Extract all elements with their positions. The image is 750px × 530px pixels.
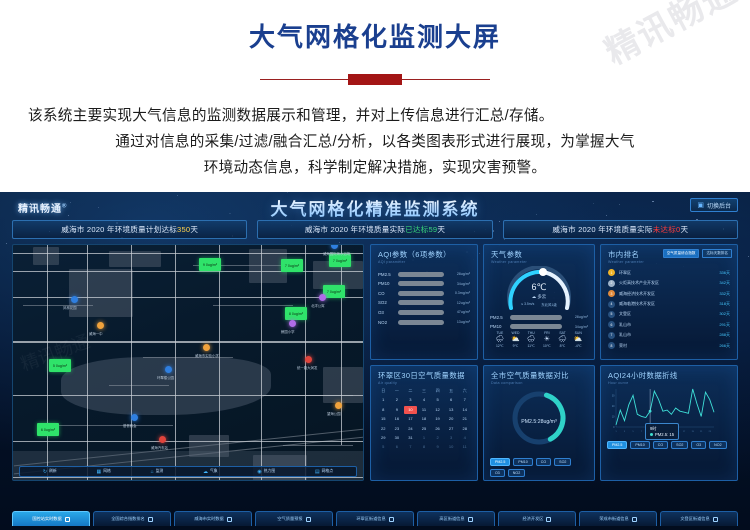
map-poi-icon[interactable] [305,356,312,363]
rank-value: 332天 [719,291,730,297]
map-column: 精讯畅通 ↻刷新▦网格⌂监测☁气象◉热力图▤网格点 7 0ug/m³7 0ug/… [12,244,364,481]
rank-badge: 6 [608,321,615,328]
map-block [323,367,363,403]
x-tick-label: 21 [700,431,702,433]
calendar-day[interactable]: 13 [445,406,458,414]
line-panel-header: AQI24小时数据折线 Hour curve [601,366,737,385]
x-tick-label: 3 [624,431,625,433]
calendar-day[interactable]: 24 [404,425,417,433]
calendar-day[interactable]: 1 [377,396,390,404]
x-tick-label: 17 [683,431,685,433]
calendar-day[interactable]: 6 [445,396,458,404]
rank-row[interactable]: 1 环翠区 336天 [608,269,730,276]
temperature-gauge: 6℃ ☁ 多云 ≤ 3.5m/s 东北风1级 [503,266,575,310]
dashboard-header: 精讯畅通® 大气网格化精准监测系统 ▣ 切换后台 [0,192,750,220]
kpi-value: 已达标59 [405,224,437,235]
aqi-bar-value: 47ug/m³ [448,310,470,314]
map-poi-label: 威海国际海水浴场 [323,251,350,256]
rank-badge: 4 [608,301,615,308]
bottom-tab-label: 荣成市街道信息 [599,516,628,522]
y-tick-label: 30 [612,394,615,397]
forecast-day: FRI ☀ 10℃ [539,331,555,348]
map-control-刷新[interactable]: ↻刷新 [43,469,57,475]
calendar-day[interactable]: 18 [418,415,431,423]
rank-badge: 5 [608,311,615,318]
tooltip-series: PM2.5: 15 [655,432,674,437]
dashboard-grid: 精讯畅通 ↻刷新▦网格⌂监测☁气象◉热力图▤网格点 7 0ug/m³7 0ug/… [0,239,750,481]
calendar-day[interactable]: 17 [404,415,417,423]
map-poi-icon[interactable] [131,414,138,421]
weather-bar-track [510,315,562,320]
kpi-suffix: 天 [680,224,688,235]
map-marker[interactable]: 9 0ug/m³ [199,258,221,271]
y-tick-label: 10 [612,415,615,418]
monitor-icon: ▣ [697,201,704,209]
calendar-day[interactable]: 23 [391,425,404,433]
weather-bar-label: PM10 [490,324,506,329]
rank-row[interactable]: 8 荣村 266天 [608,342,730,349]
bottom-tab-label: 国控站实时数据 [32,516,61,522]
rank-badge: 8 [608,342,615,349]
aqi-bar-track [398,300,444,305]
map-road [23,305,93,306]
calendar-panel-header: 环翠区30日空气质量数据 Air quality [371,366,477,385]
calendar-day[interactable]: 16 [391,415,404,423]
rank-value: 302天 [719,311,730,317]
calendar-day[interactable]: 10 [404,406,417,414]
calendar-panel: 环翠区30日空气质量数据 Air quality 日一二三四五六12345678… [370,365,478,481]
rank-badge: 1 [608,269,615,276]
aqi-panel: AQI参数（6项参数） AQI parameter PM2.5 28ug/m³P… [370,244,478,360]
chip-CO[interactable]: CO [653,441,668,449]
weather-panel: 天气参数 Weather parameter 6℃ [483,244,595,360]
map-block [33,247,59,265]
heatmap-icon: ◉ [257,469,261,475]
calendar-day[interactable]: 29 [377,434,390,442]
calendar-day[interactable]: 30 [391,434,404,442]
x-tick-label: 23 [709,431,711,433]
x-tick-label: 19 [692,431,694,433]
calendar-day[interactable]: 5 [377,443,390,451]
map-poi-icon[interactable] [203,344,210,351]
map-road [109,385,169,386]
line-chart-body: 0102030401357911131517192123 9时 PM2.5: 1… [601,385,737,439]
map-marker[interactable]: 6 0ug/m³ [37,423,59,436]
weather-icon: ☁ [203,469,208,475]
kpi-value: 350 [177,225,190,234]
calendar-day[interactable]: 14 [458,406,471,414]
bottom-tab-label: 环翠区街道信息 [356,516,385,522]
refresh-icon: ↻ [43,469,47,475]
forecast-day-temp: 12℃ [492,344,508,348]
layer-icon: ▤ [315,469,320,475]
panels-row-bottom: 环翠区30日空气质量数据 Air quality 日一二三四五六12345678… [370,365,738,481]
weather-bar-row: PM10 34ug/m³ [490,324,588,329]
title-divider [260,74,490,86]
bottom-tab-全国综合指数排名[interactable]: 全国综合指数排名 [93,511,171,526]
y-tick-label: 0 [613,426,615,429]
map-road [175,245,176,481]
map-poi-icon[interactable] [159,436,166,443]
rain-icon: 🌧 [555,335,571,344]
expand-icon [468,517,473,522]
map-poi-icon[interactable] [331,244,338,249]
aqi-bar-row: CO 0.3mg/m³ [378,291,470,296]
map-poi-icon[interactable] [289,320,296,327]
rank-region: 荣村 [619,343,715,349]
expand-icon [389,517,394,522]
aqi-bar-track [398,281,444,286]
rank-region: 威海经济技术开发区 [619,291,715,297]
map-poi-label: 凤林花园 [63,305,77,310]
calendar-day[interactable]: 8 [418,443,431,451]
line-chip-row: PM2.5PM10COSO2O3NO2 [601,439,737,449]
weather-bar-label: PM2.5 [490,315,506,320]
kpi-2[interactable]: 威海市 2020 年环境质量实际 已达标59 天 [257,220,492,239]
calendar-day[interactable]: 3 [404,396,417,404]
aqi-bar-list: PM2.5 28ug/m³PM10 34ug/m³CO 0.3mg/m³SO2 … [371,264,477,325]
chip-PM2.5[interactable]: PM2.5 [607,441,627,449]
cloud-icon: ☁ [532,294,536,299]
compare-panel-header: 全市空气质量数据对比 Data comparison [484,366,594,385]
bottom-tab-label: 空气质量预报 [277,516,302,522]
line-panel-title: AQI24小时数据折线 [608,370,731,381]
map-road [305,245,306,481]
map-poi-label: 威海一中 [89,331,103,336]
bottom-tab-荣成市街道信息[interactable]: 荣成市街道信息 [579,511,657,526]
bottom-tab-label: 经济开发区 [523,516,544,522]
bottom-tab-经济开发区[interactable]: 经济开发区 [498,511,576,526]
rank-tab-days[interactable]: 达标天数排名 [702,249,732,258]
dashboard: 精讯畅通® 大气网格化精准监测系统 ▣ 切换后台 威海市 2020 年环境质量计… [0,192,750,530]
chip-PM10[interactable]: PM10 [630,441,649,449]
calendar-grid[interactable]: 日一二三四五六123456789101112131415161718192021… [377,387,471,452]
calendar-day[interactable]: 11 [458,443,471,451]
series-dot-icon [650,433,653,436]
forecast-day-temp: 9℃ [508,344,524,348]
aqi-bar-row: PM10 34ug/m³ [378,281,470,286]
switch-backend-button[interactable]: ▣ 切换后台 [690,198,738,212]
bottom-tab-label: 威海市实时数据 [194,516,223,522]
weather-bar-value: 34ug/m³ [566,325,588,329]
aqi-bar-label: CO [378,291,394,296]
calendar-day[interactable]: 12 [431,406,444,414]
calendar-weekday: 二 [404,387,417,395]
weather-bar-row: PM2.5 28ug/m³ [490,315,588,320]
rank-row[interactable]: 6 乳山市 291天 [608,321,730,328]
rank-region: 火炬高技术产业开发区 [619,280,715,286]
x-tick-label: 7 [641,431,642,433]
map-control-网格点[interactable]: ▤网格点 [315,469,333,475]
panels-row-top: AQI参数（6项参数） AQI parameter PM2.5 28ug/m³P… [370,244,738,360]
calendar-day[interactable]: 26 [431,425,444,433]
line-hover-point[interactable] [649,410,652,413]
rank-badge: 2 [608,280,615,287]
rank-region: 威海临港技术开发区 [619,301,715,307]
intro-body: 该系统主要实现大气信息的监测数据展示和管理，并对上传信息进行汇总/存储。 通过对… [28,104,722,182]
rank-value: 291天 [719,322,730,328]
aqi-bar-track [398,320,444,325]
aqi-bar-row: NO2 13ug/m³ [378,320,470,325]
rain-icon: 🌧 [523,335,539,344]
expand-icon [713,517,718,522]
forecast-day: THU 🌧 11℃ [523,331,539,348]
forecast-day: SUN ⛅ -4℃ [570,331,586,348]
calendar-day[interactable]: 3 [445,434,458,442]
bottom-tab-环翠区街道信息[interactable]: 环翠区街道信息 [336,511,414,526]
chip-PM10[interactable]: PM10 [513,458,532,466]
x-tick-label: 1 [615,431,616,433]
calendar-day[interactable]: 7 [404,443,417,451]
expand-icon [227,517,232,522]
map-road [213,305,293,306]
bottom-tab-空气质量预报[interactable]: 空气质量预报 [255,511,333,526]
weather-condition: ☁ 多云 [503,294,575,300]
map-road [283,445,353,446]
rank-list: 1 环翠区 336天2 火炬高技术产业开发区 342天3 威海经济技术开发区 3… [601,264,737,349]
cloud-sun-icon: ⛅ [570,335,586,344]
rank-value: 336天 [719,270,730,276]
kpi-prefix: 威海市 2020 年环境质量实际 [552,224,652,235]
forecast-day-temp: 11℃ [523,344,539,348]
map-control-热力图[interactable]: ◉热力图 [257,469,275,475]
rank-row[interactable]: 3 威海经济技术开发区 332天 [608,290,730,297]
calendar-weekday: 日 [377,387,390,395]
intro-section: 精讯畅通 大气网格化监测大屏 该系统主要实现大气信息的监测数据展示和管理，并对上… [0,0,750,192]
chip-O3[interactable]: O3 [691,441,706,449]
calendar-day[interactable]: 5 [431,396,444,404]
forecast-day-temp: 10℃ [539,344,555,348]
cloud-sun-icon: ⛅ [508,335,524,344]
calendar-day[interactable]: 28 [458,425,471,433]
rank-value: 288天 [719,332,730,338]
intro-paragraph-1: 该系统主要实现大气信息的监测数据展示和管理，并对上传信息进行汇总/存储。 [28,104,722,130]
map-marker[interactable]: 8 0ug/m³ [285,307,307,320]
bottom-tab-label: 高区街道信息 [439,516,464,522]
calendar-day[interactable]: 2 [391,396,404,404]
map-control-气象[interactable]: ☁气象 [203,469,218,475]
calendar-day[interactable]: 21 [458,415,471,423]
map-poi-label: 望海公园 [327,411,341,416]
aqi-bar-value: 12ug/m³ [448,301,470,305]
bottom-tab-高区街道信息[interactable]: 高区街道信息 [417,511,495,526]
map-control-label: 网格 [103,469,111,474]
map-poi-icon[interactable] [71,296,78,303]
calendar-day[interactable]: 20 [445,415,458,423]
bottom-tab-国控站实时数据[interactable]: 国控站实时数据 [12,511,90,526]
aqi-bar-label: PM10 [378,281,394,286]
calendar-weekday: 三 [418,387,431,395]
map-control-label: 气象 [210,469,218,474]
bottom-tab-label: 全国综合指数排名 [111,516,145,522]
calendar-day[interactable]: 1 [418,434,431,442]
rank-panel: 市内排名 Weather parameter 空气质量综合指数 达标天数排名 1… [600,244,738,360]
aqi-bar-value: 28ug/m³ [448,272,470,276]
calendar-day[interactable]: 31 [404,434,417,442]
bottom-tab-威海市实时数据[interactable]: 威海市实时数据 [174,511,252,526]
calendar-day[interactable]: 27 [445,425,458,433]
rank-tabs: 空气质量综合指数 达标天数排名 [663,249,732,258]
line-series-pm25 [616,389,714,425]
map-road [13,477,364,478]
bottom-tab-label: 文登区街道信息 [680,516,709,522]
aqi-bar-value: 0.3mg/m³ [448,291,470,295]
rank-row[interactable]: 4 威海临港技术开发区 318天 [608,301,730,308]
aqi-bar-label: O3 [378,310,394,315]
forecast-day: WED ⛅ 9℃ [508,331,524,348]
rank-tab-index[interactable]: 空气质量综合指数 [663,249,700,258]
map-poi-label: 统一路大润发 [297,365,317,370]
rank-row[interactable]: 7 乳山市 288天 [608,332,730,339]
aqi-bar-track [398,272,444,277]
kpi-3[interactable]: 威海市 2020 年环境质量实际 未达标0 天 [503,220,738,239]
map-road [131,245,132,481]
line-chart-tooltip: 9时 PM2.5: 15 [645,423,679,440]
map-poi-icon[interactable] [335,402,342,409]
kpi-1[interactable]: 威海市 2020 年环境质量计划达标 350 天 [12,220,247,239]
kpi-value: 未达标0 [653,224,681,235]
bottom-tab-文登区街道信息[interactable]: 文登区街道信息 [660,511,738,526]
chip-O3[interactable]: O3 [490,469,505,477]
calendar-weekday: 六 [458,387,471,395]
calendar-day[interactable]: 15 [377,415,390,423]
kpi-bar: 威海市 2020 年环境质量计划达标 350 天威海市 2020 年环境质量实际… [0,220,750,239]
rank-value: 318天 [719,301,730,307]
chip-CO[interactable]: CO [536,458,551,466]
rank-row[interactable]: 5 文登区 302天 [608,311,730,318]
compare-chip-row: PM2.5PM10COSO2O3NO2 [484,456,594,477]
calendar-day[interactable]: 7 [458,396,471,404]
calendar-day[interactable]: 22 [377,425,390,433]
calendar-day[interactable]: 9 [431,443,444,451]
station-icon: ⌂ [151,469,154,475]
weather-bar-track [510,324,562,329]
map-block [69,269,133,317]
temperature-value: 6℃ [503,282,575,293]
map-marker[interactable]: 7 0ug/m³ [281,259,303,272]
calendar-day[interactable]: 4 [458,434,471,442]
chip-SO2[interactable]: SO2 [671,441,688,449]
forecast-day: SAT 🌧 8℃ [555,331,571,348]
aqi-bar-track [398,291,444,296]
aqi-bar-row: PM2.5 28ug/m³ [378,272,470,277]
map-poi-icon[interactable] [319,294,326,301]
rank-row[interactable]: 2 火炬高技术产业开发区 342天 [608,280,730,287]
map-control-label: 热力图 [264,469,275,474]
kpi-prefix: 威海市 2020 年环境质量实际 [305,224,405,235]
map-toolbar: ↻刷新▦网格⌂监测☁气象◉热力图▤网格点 [19,466,357,477]
aqi-bar-value: 13ug/m³ [448,320,470,324]
y-tick-label: 40 [612,386,615,387]
map-control-label: 刷新 [49,469,57,474]
map-poi-label: 威海市实验小学 [195,353,219,358]
map-control-监测[interactable]: ⌂监测 [151,469,164,475]
map-road [13,441,364,442]
rain-icon: 🌧 [492,335,508,344]
chip-NO2[interactable]: NO2 [508,469,525,477]
map-marker[interactable]: 5 0ug/m³ [49,359,71,372]
map-road [13,395,364,396]
calendar-day[interactable]: 6 [391,443,404,451]
aqi-bar-track [398,310,444,315]
kpi-prefix: 威海市 2020 年环境质量计划达标 [61,224,177,235]
calendar-day[interactable]: 4 [418,396,431,404]
kpi-suffix: 天 [437,224,445,235]
monitoring-map[interactable]: 精讯畅通 ↻刷新▦网格⌂监测☁气象◉热力图▤网格点 7 0ug/m³7 0ug/… [12,244,364,481]
calendar-day[interactable]: 25 [418,425,431,433]
expand-icon [546,517,551,522]
map-road [53,425,173,426]
compare-donut: PM2.5:28ug/m³ [484,386,594,456]
calendar-weekday: 五 [445,387,458,395]
wind-direction: 东北风1级 [541,302,556,307]
map-poi-label: 鲸园小学 [281,329,295,334]
map-poi-label: 北洋公寓 [311,303,325,308]
forecast-day-temp: 8℃ [555,344,571,348]
calendar-panel-title: 环翠区30日空气质量数据 [378,370,471,381]
weather-body: 6℃ ☁ 多云 ≤ 3.5m/s 东北风1级 PM2.5 28ug/m³PM10 [484,264,594,348]
map-control-网格[interactable]: ▦网格 [96,469,110,475]
y-tick-label: 20 [612,405,615,408]
map-road [219,245,220,481]
chip-SO2[interactable]: SO2 [554,458,571,466]
intro-paragraph-3: 环境动态信息，科学制定解决措施，实现灾害预警。 [28,156,722,182]
weather-bar-list: PM2.5 28ug/m³PM10 34ug/m³ [490,315,588,330]
calendar-day[interactable]: 2 [431,434,444,442]
expand-icon [632,517,637,522]
calendar-day[interactable]: 10 [445,443,458,451]
calendar-day[interactable]: 9 [391,406,404,414]
wind-speed: ≤ 3.5m/s [521,302,534,307]
kpi-suffix: 天 [190,224,198,235]
calendar-day[interactable]: 19 [431,415,444,423]
rank-badge: 7 [608,332,615,339]
forecast-day-temp: -4℃ [570,344,586,348]
compare-panel-subtitle: Data comparison [491,381,588,385]
chip-PM2.5[interactable]: PM2.5 [490,458,510,466]
calendar-day[interactable]: 11 [418,406,431,414]
weather-panel-title: 天气参数 [491,249,588,260]
map-marker[interactable]: 7 0ug/m³ [323,285,345,298]
map-road [13,297,364,298]
map-control-label: 网格点 [322,469,333,474]
weather-meta: ≤ 3.5m/s 东北风1级 [503,302,575,307]
rank-value: 342天 [719,280,730,286]
rank-region: 文登区 [619,311,715,317]
chip-NO2[interactable]: NO2 [709,441,726,449]
map-poi-icon[interactable] [165,366,172,373]
forecast-day: TUE 🌧 12℃ [492,331,508,348]
aqi-bar-label: SO2 [378,300,394,305]
calendar-day[interactable]: 8 [377,406,390,414]
grid-icon: ▦ [96,469,101,475]
aqi-bar-label: NO2 [378,320,394,325]
panels-column: AQI参数（6项参数） AQI parameter PM2.5 28ug/m³P… [370,244,738,481]
map-road [87,245,88,481]
rank-value: 266天 [719,343,730,349]
calendar-body: 日一二三四五六123456789101112131415161718192021… [371,385,477,452]
rank-region: 乳山市 [619,332,715,338]
map-poi-label: 环翠楼公园 [157,375,174,380]
compare-center-label: PM2.5:28ug/m³ [484,419,594,425]
compare-panel: 全市空气质量数据对比 Data comparison PM2.5:28ug/m³… [483,365,595,481]
weather-forecast-row: TUE 🌧 12℃WED ⛅ 9℃THU 🌧 11℃FRI ☀ 10℃SAT 🌧… [490,329,588,348]
map-road [13,253,364,254]
map-poi-icon[interactable] [97,322,104,329]
dashboard-title: 大气网格化精准监测系统 [0,195,750,220]
rank-badge: 3 [608,290,615,297]
rank-region: 乳山市 [619,322,715,328]
